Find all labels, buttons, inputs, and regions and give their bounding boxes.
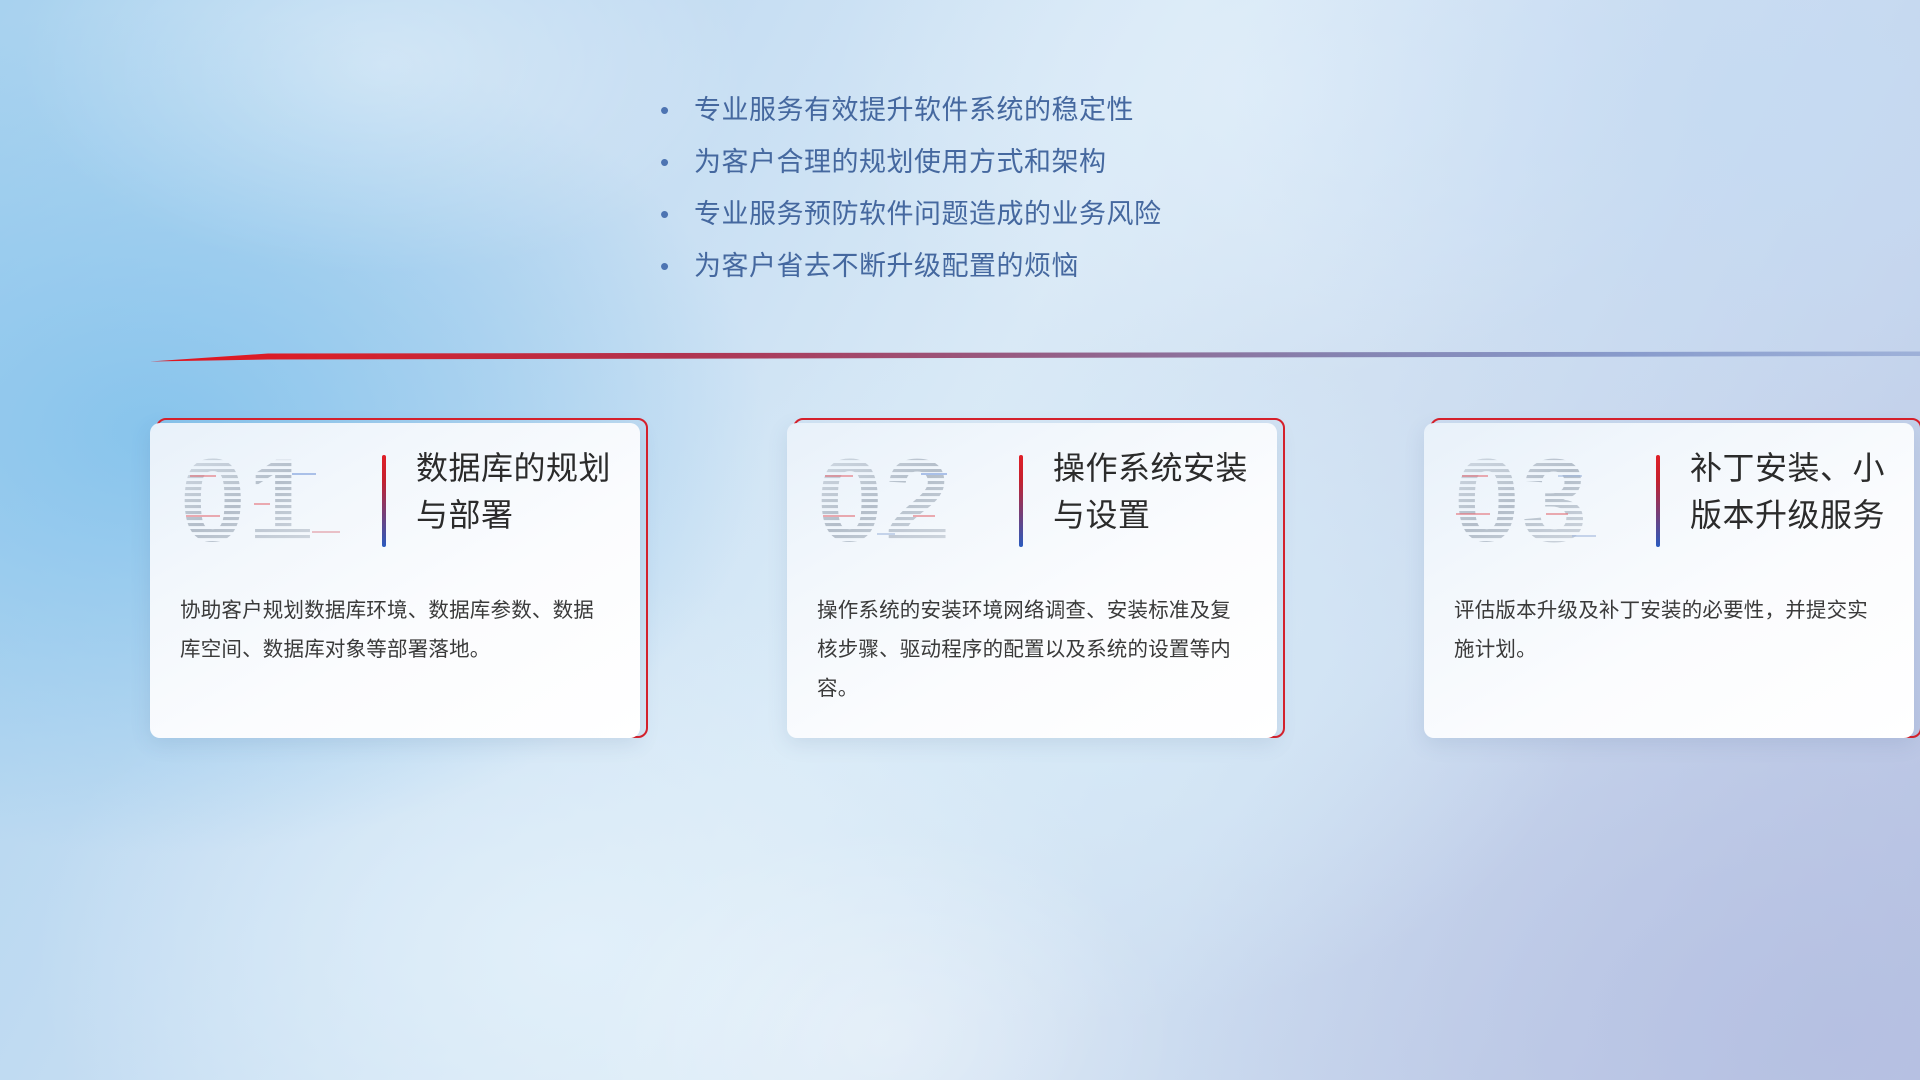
bullet-text: 专业服务预防软件问题造成的业务风险 bbox=[694, 192, 1162, 236]
benefits-bullet-list: • 专业服务有效提升软件系统的稳定性 • 为客户合理的规划使用方式和架构 • 专… bbox=[660, 88, 1162, 296]
list-item: • 专业服务有效提升软件系统的稳定性 bbox=[660, 88, 1162, 140]
card-number-watermark: 02 bbox=[817, 445, 997, 557]
service-card[interactable]: 03 补丁安装、小版本升级服务 bbox=[1424, 418, 1920, 738]
card-title: 操作系统安装与设置 bbox=[1053, 445, 1263, 539]
bullet-dot-icon: • bbox=[660, 244, 694, 288]
card-number-glyph: 03 bbox=[1454, 445, 1589, 557]
bullet-text: 为客户合理的规划使用方式和架构 bbox=[694, 140, 1107, 184]
card-divider-bar bbox=[382, 455, 386, 547]
card-description: 协助客户规划数据库环境、数据库参数、数据库空间、数据库对象等部署落地。 bbox=[180, 591, 610, 669]
service-card[interactable]: 02 操作系统安装与设置 bbox=[787, 418, 1285, 738]
card-header: 03 补丁安装、小版本升级服务 bbox=[1424, 423, 1914, 573]
list-item: • 为客户省去不断升级配置的烦恼 bbox=[660, 244, 1162, 296]
card-divider-bar bbox=[1019, 455, 1023, 547]
list-item: • 为客户合理的规划使用方式和架构 bbox=[660, 140, 1162, 192]
card-title: 数据库的规划与部署 bbox=[416, 445, 626, 539]
card-title: 补丁安装、小版本升级服务 bbox=[1690, 445, 1900, 539]
section-divider bbox=[148, 342, 1920, 368]
card-number-watermark: 03 bbox=[1454, 445, 1634, 557]
card-divider-bar bbox=[1656, 455, 1660, 547]
bullet-text: 为客户省去不断升级配置的烦恼 bbox=[694, 244, 1079, 288]
service-card[interactable]: 01 数据库的规划与部署 bbox=[150, 418, 648, 738]
card-description: 评估版本升级及补丁安装的必要性，并提交实施计划。 bbox=[1454, 591, 1884, 669]
bullet-text: 专业服务有效提升软件系统的稳定性 bbox=[694, 88, 1134, 132]
card-header: 02 操作系统安装与设置 bbox=[787, 423, 1277, 573]
card-panel: 03 补丁安装、小版本升级服务 bbox=[1424, 423, 1914, 738]
card-panel: 01 数据库的规划与部署 bbox=[150, 423, 640, 738]
bullet-dot-icon: • bbox=[660, 88, 694, 132]
card-description: 操作系统的安装环境网络调查、安装标准及复核步骤、驱动程序的配置以及系统的设置等内… bbox=[817, 591, 1247, 708]
card-number-watermark: 01 bbox=[180, 445, 360, 557]
card-number-glyph: 02 bbox=[817, 445, 952, 557]
card-number-glyph: 01 bbox=[180, 445, 315, 557]
list-item: • 专业服务预防软件问题造成的业务风险 bbox=[660, 192, 1162, 244]
card-header: 01 数据库的规划与部署 bbox=[150, 423, 640, 573]
card-panel: 02 操作系统安装与设置 bbox=[787, 423, 1277, 738]
service-card-row: 01 数据库的规划与部署 bbox=[150, 418, 1920, 748]
bullet-dot-icon: • bbox=[660, 192, 694, 236]
bullet-dot-icon: • bbox=[660, 140, 694, 184]
